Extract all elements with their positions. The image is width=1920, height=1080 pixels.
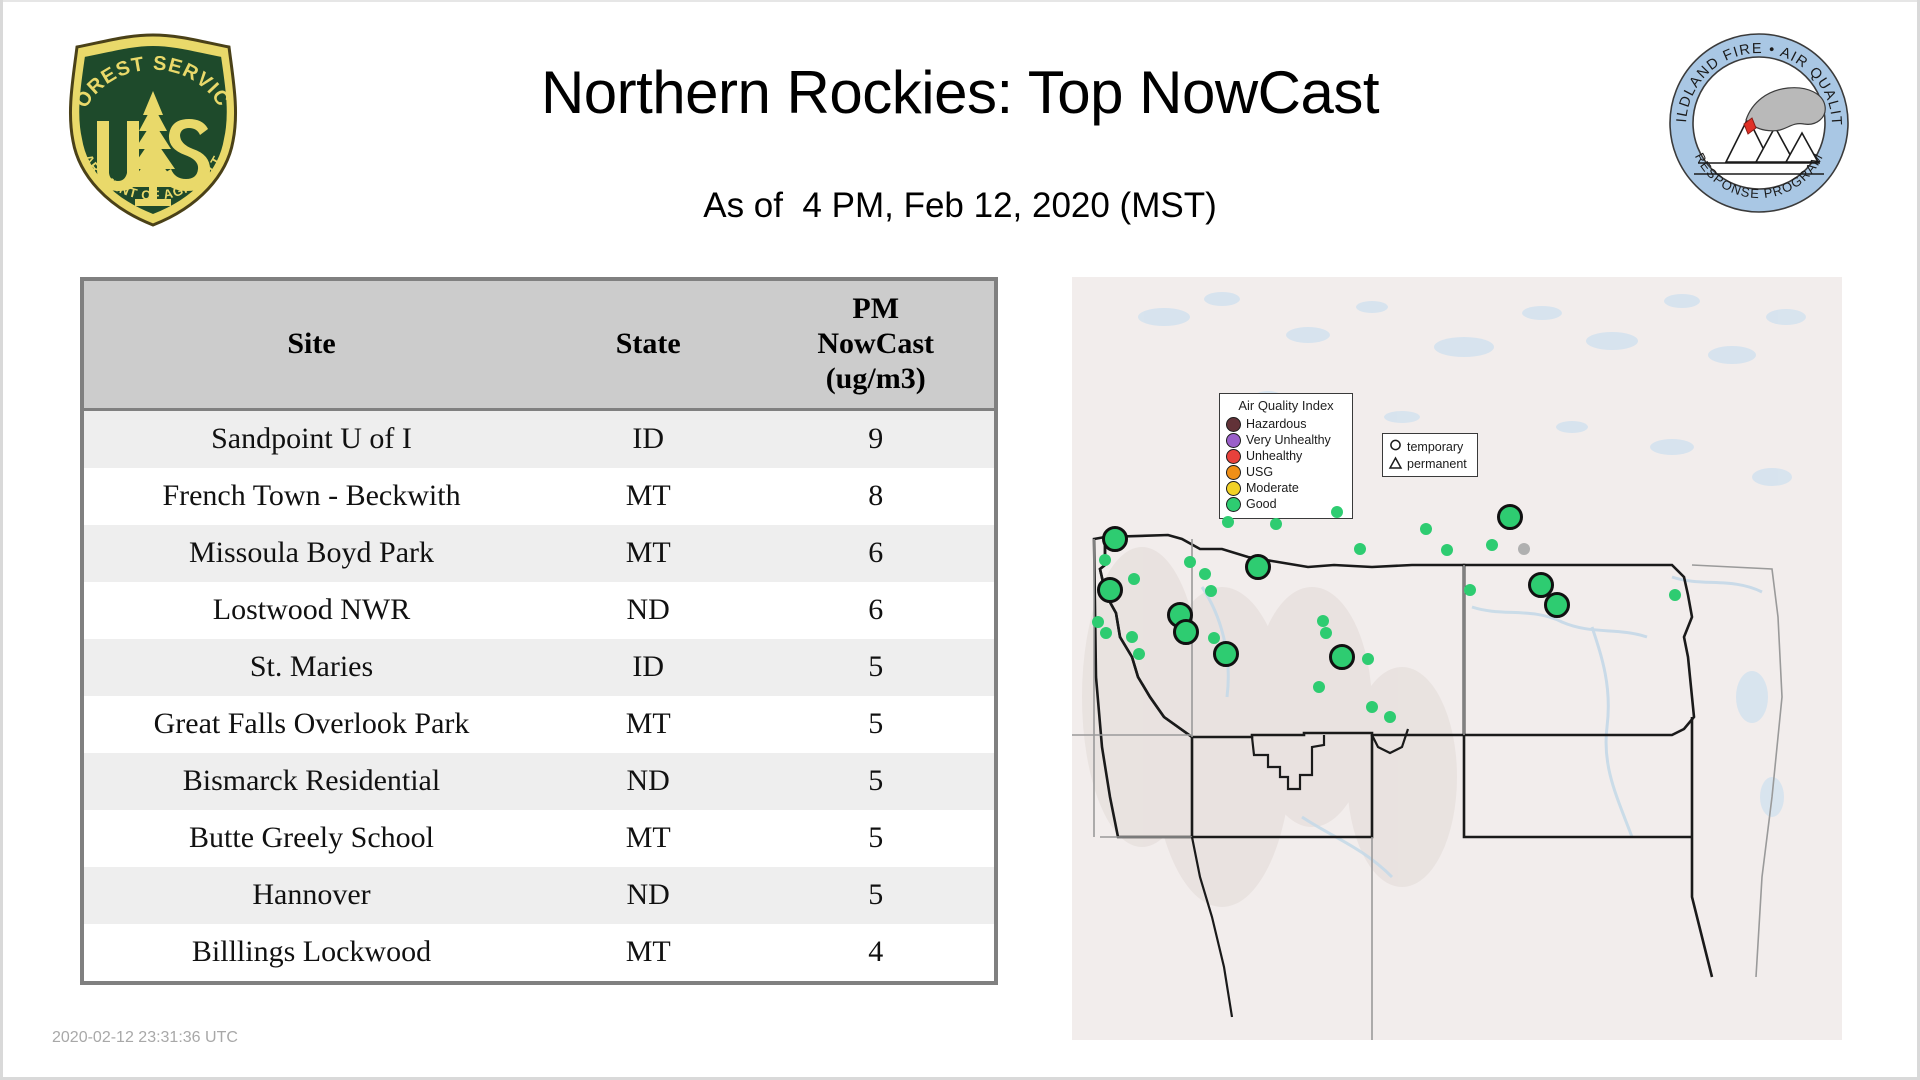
table-row: Billlings Lockwood MT 4	[84, 924, 994, 981]
monitor-marker[interactable]	[1128, 573, 1140, 585]
monitor-marker-top[interactable]	[1173, 619, 1199, 645]
table-row: Great Falls Overlook Park MT 5	[84, 696, 994, 753]
cell-value: 8	[757, 468, 994, 525]
aqi-dot-very-unhealthy	[1226, 433, 1241, 448]
table-header-row: Site State PM NowCast (ug/m3)	[84, 281, 994, 410]
monitor-marker[interactable]	[1199, 568, 1211, 580]
table-row: Sandpoint U of I ID 9	[84, 410, 994, 469]
monitor-marker[interactable]	[1384, 711, 1396, 723]
monitor-marker[interactable]	[1313, 681, 1325, 693]
cell-value: 9	[757, 410, 994, 469]
legend-air-quality-index: Air Quality Index Hazardous Very Unhealt…	[1219, 393, 1353, 519]
page-title: Northern Rockies: Top NowCast	[260, 60, 1660, 126]
monitor-marker[interactable]	[1366, 701, 1378, 713]
monitor-marker[interactable]	[1126, 631, 1138, 643]
monitor-marker[interactable]	[1362, 653, 1374, 665]
cell-site: Missoula Boyd Park	[84, 525, 539, 582]
monitor-marker-top[interactable]	[1213, 641, 1239, 667]
cell-state: ID	[539, 639, 757, 696]
cell-site: Sandpoint U of I	[84, 410, 539, 469]
monitor-marker[interactable]	[1222, 516, 1234, 528]
monitor-marker[interactable]	[1099, 554, 1111, 566]
map-basemap	[1072, 277, 1842, 1040]
monitor-map[interactable]: Air Quality Index Hazardous Very Unhealt…	[1072, 277, 1842, 1040]
legend-label: permanent	[1407, 457, 1467, 471]
cell-site: Butte Greely School	[84, 810, 539, 867]
legend-label: temporary	[1407, 440, 1463, 454]
forest-service-logo: FOREST SERVICE DEPARTMENT OF AGRICULTURE	[53, 29, 253, 229]
cell-state: ND	[539, 753, 757, 810]
table-row: Missoula Boyd Park MT 6	[84, 525, 994, 582]
cell-value: 5	[757, 639, 994, 696]
cell-site: French Town - Beckwith	[84, 468, 539, 525]
wfaqrp-logo: WILDLAND FIRE • AIR QUALITY RESPONSE PRO…	[1668, 32, 1850, 214]
cell-site: Hannover	[84, 867, 539, 924]
legend-label: Good	[1246, 497, 1277, 511]
table-body: Sandpoint U of I ID 9 French Town - Beck…	[84, 410, 994, 982]
legend-label: Very Unhealthy	[1246, 433, 1331, 447]
monitor-marker[interactable]	[1669, 589, 1681, 601]
monitor-marker-top[interactable]	[1245, 554, 1271, 580]
monitor-marker[interactable]	[1100, 627, 1112, 639]
legend-item-hazardous: Hazardous	[1226, 416, 1346, 432]
monitor-marker[interactable]	[1420, 523, 1432, 535]
generation-timestamp: 2020-02-12 23:31:36 UTC	[52, 1029, 238, 1047]
cell-state: ND	[539, 867, 757, 924]
column-header-line-3: (ug/m3)	[757, 361, 994, 396]
legend-item-moderate: Moderate	[1226, 480, 1346, 496]
legend-label: Unhealthy	[1246, 449, 1302, 463]
top-nowcast-table: Site State PM NowCast (ug/m3) Sandpoint …	[80, 277, 998, 985]
cell-value: 5	[757, 696, 994, 753]
monitor-marker[interactable]	[1354, 543, 1366, 555]
aqi-dot-hazardous	[1226, 417, 1241, 432]
cell-value: 6	[757, 525, 994, 582]
monitor-marker[interactable]	[1092, 616, 1104, 628]
monitor-marker[interactable]	[1184, 556, 1196, 568]
cell-value: 5	[757, 810, 994, 867]
legend-item-permanent: permanent	[1388, 455, 1472, 472]
page-edge-top	[0, 0, 1920, 2]
legend-title: Air Quality Index	[1226, 398, 1346, 413]
table-row: Butte Greely School MT 5	[84, 810, 994, 867]
table-row: Bismarck Residential ND 5	[84, 753, 994, 810]
table-row: Lostwood NWR ND 6	[84, 582, 994, 639]
monitor-marker-top[interactable]	[1329, 644, 1355, 670]
cell-state: MT	[539, 468, 757, 525]
legend-site-type: temporary permanent	[1382, 433, 1478, 477]
cell-state: MT	[539, 924, 757, 981]
page-subtitle: As of 4 PM, Feb 12, 2020 (MST)	[260, 185, 1660, 227]
table-row: French Town - Beckwith MT 8	[84, 468, 994, 525]
cell-site: Bismarck Residential	[84, 753, 539, 810]
column-header-pm-nowcast: PM NowCast (ug/m3)	[757, 281, 994, 410]
aqi-dot-usg	[1226, 465, 1241, 480]
monitor-marker-top[interactable]	[1097, 577, 1123, 603]
column-header-state: State	[539, 281, 757, 410]
cell-value: 4	[757, 924, 994, 981]
monitor-marker[interactable]	[1270, 518, 1282, 530]
column-header-line-1: PM	[757, 291, 994, 326]
circle-outline-icon	[1388, 439, 1403, 454]
cell-state: MT	[539, 810, 757, 867]
monitor-marker[interactable]	[1331, 506, 1343, 518]
cell-value: 5	[757, 867, 994, 924]
legend-item-unhealthy: Unhealthy	[1226, 448, 1346, 464]
legend-label: Hazardous	[1246, 417, 1306, 431]
monitor-marker[interactable]	[1317, 615, 1329, 627]
legend-item-usg: USG	[1226, 464, 1346, 480]
table-row: St. Maries ID 5	[84, 639, 994, 696]
aqi-dot-good	[1226, 497, 1241, 512]
column-header-site: Site	[84, 281, 539, 410]
legend-item-good: Good	[1226, 496, 1346, 512]
legend-label: USG	[1246, 465, 1273, 479]
cell-site: Billlings Lockwood	[84, 924, 539, 981]
monitor-marker-offline[interactable]	[1518, 543, 1530, 555]
monitor-marker[interactable]	[1208, 632, 1220, 644]
column-header-line-2: NowCast	[757, 326, 994, 361]
cell-value: 6	[757, 582, 994, 639]
slide-canvas: FOREST SERVICE DEPARTMENT OF AGRICULTURE	[0, 0, 1920, 1080]
legend-label: Moderate	[1246, 481, 1299, 495]
legend-item-temporary: temporary	[1388, 438, 1472, 455]
monitor-marker[interactable]	[1320, 627, 1332, 639]
table-row: Hannover ND 5	[84, 867, 994, 924]
cell-site: Great Falls Overlook Park	[84, 696, 539, 753]
monitor-marker[interactable]	[1486, 539, 1498, 551]
cell-state: ID	[539, 410, 757, 469]
monitor-marker[interactable]	[1441, 544, 1453, 556]
cell-state: MT	[539, 525, 757, 582]
aqi-dot-moderate	[1226, 481, 1241, 496]
monitor-marker-top[interactable]	[1544, 592, 1570, 618]
monitor-marker[interactable]	[1205, 585, 1217, 597]
aqi-dot-unhealthy	[1226, 449, 1241, 464]
monitor-marker-top[interactable]	[1102, 526, 1128, 552]
cell-value: 5	[757, 753, 994, 810]
cell-state: ND	[539, 582, 757, 639]
monitor-marker[interactable]	[1464, 584, 1476, 596]
triangle-outline-icon	[1388, 456, 1403, 471]
monitor-marker[interactable]	[1133, 648, 1145, 660]
cell-state: MT	[539, 696, 757, 753]
monitor-marker-top[interactable]	[1497, 504, 1523, 530]
cell-site: Lostwood NWR	[84, 582, 539, 639]
page-edge-left	[0, 0, 3, 1080]
cell-site: St. Maries	[84, 639, 539, 696]
legend-item-very-unhealthy: Very Unhealthy	[1226, 432, 1346, 448]
